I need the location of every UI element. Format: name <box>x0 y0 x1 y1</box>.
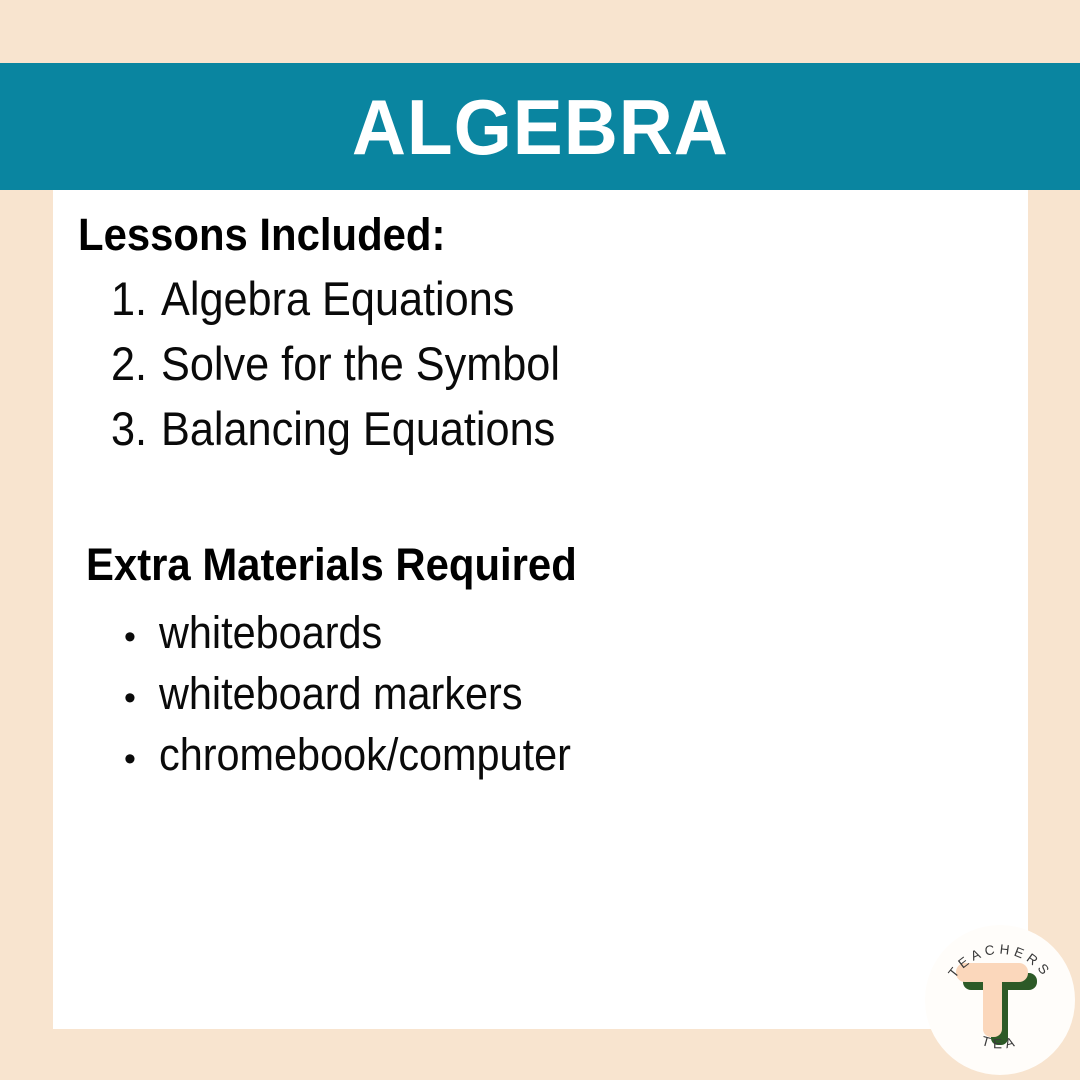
lessons-included-heading: Lessons Included: <box>78 212 445 257</box>
list-item-marker: 3. <box>111 405 157 452</box>
lessons-list: 1. Algebra Equations 2. Solve for the Sy… <box>53 275 1028 470</box>
list-item-label: Algebra Equations <box>161 275 514 322</box>
list-item-marker: 1. <box>111 275 157 322</box>
bullet-icon: • <box>124 620 159 654</box>
list-item: • whiteboards <box>53 610 1028 671</box>
logo-letter-t-peach <box>956 963 1028 1037</box>
list-item-label: Solve for the Symbol <box>161 340 560 387</box>
content-card: Lessons Included: 1. Algebra Equations 2… <box>53 190 1028 1029</box>
bullet-icon: • <box>124 681 159 715</box>
list-item: 1. Algebra Equations <box>53 275 1028 340</box>
list-item: 2. Solve for the Symbol <box>53 340 1028 405</box>
extra-materials-heading: Extra Materials Required <box>86 542 577 587</box>
poster-canvas: ALGEBRA Lessons Included: 1. Algebra Equ… <box>0 0 1080 1080</box>
list-item: • chromebook/computer <box>53 732 1028 793</box>
list-item-marker: 2. <box>111 340 157 387</box>
logo-graphic: TEACHERS TEA <box>925 925 1075 1075</box>
list-item: • whiteboard markers <box>53 671 1028 732</box>
title-banner: ALGEBRA <box>0 63 1080 190</box>
bullet-icon: • <box>124 742 159 776</box>
list-item: 3. Balancing Equations <box>53 405 1028 470</box>
page-title: ALGEBRA <box>352 88 729 166</box>
list-item-label: Balancing Equations <box>161 405 555 452</box>
list-item-label: whiteboard markers <box>159 671 523 716</box>
list-item-label: whiteboards <box>159 610 382 655</box>
list-item-label: chromebook/computer <box>159 732 571 777</box>
materials-list: • whiteboards • whiteboard markers • chr… <box>53 610 1028 793</box>
teachers-tea-logo: TEACHERS TEA <box>925 925 1075 1075</box>
